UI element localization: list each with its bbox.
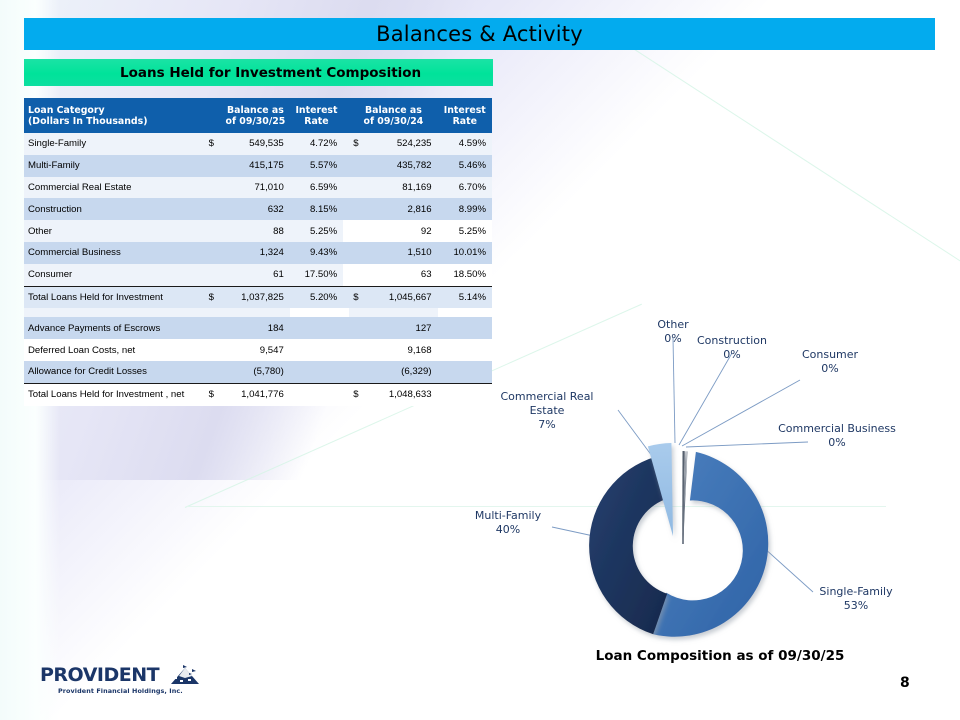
cell-balance-2025: 549,535 xyxy=(221,133,290,155)
header-loan-category-line2: (Dollars In Thousands) xyxy=(28,116,221,127)
header-balance-2024-line1: Balance as xyxy=(349,105,437,116)
logo-tagline: Provident Financial Holdings, Inc. xyxy=(40,687,210,695)
spacer-cell xyxy=(290,308,343,317)
cell-rate-2024: 5.46% xyxy=(438,155,492,177)
cell-currency-2025: $ xyxy=(205,133,221,155)
callout-commercial-real-estate: Commercial Real Estate 7% xyxy=(492,390,602,432)
cell-rate-2025: 5.57% xyxy=(290,155,343,177)
cell-currency-2024 xyxy=(349,155,365,177)
cell-rate-2024: 18.50% xyxy=(438,264,492,286)
cell-balance-2025: 71,010 xyxy=(221,177,290,199)
page-number: 8 xyxy=(900,675,910,691)
callout-multi-family-percent: 40% xyxy=(496,523,520,536)
cell-category: Commercial Real Estate xyxy=(24,177,205,199)
cell-currency-2024 xyxy=(349,242,365,264)
cell-balance-2024: 9,168 xyxy=(366,339,438,361)
cell-balance-2025: 415,175 xyxy=(221,155,290,177)
cell-balance-2024: 524,235 xyxy=(366,133,438,155)
callout-construction: Construction 0% xyxy=(692,334,772,362)
cell-balance-2024: 2,816 xyxy=(366,198,438,220)
cell-category: Allowance for Credit Losses xyxy=(24,361,205,383)
slide-canvas: Balances & Activity Loans Held for Inves… xyxy=(0,0,960,720)
header-balance-2025-line1: Balance as xyxy=(221,105,290,116)
chart-title: Loan Composition as of 09/30/25 xyxy=(570,648,870,664)
header-rate-2025-line2: Rate xyxy=(290,116,343,127)
cell-balance-2024: 63 xyxy=(366,264,438,286)
logo-wordmark-text: PROVIDENT xyxy=(40,664,159,686)
cell-category: Commercial Business xyxy=(24,242,205,264)
cell-category: Deferred Loan Costs, net xyxy=(24,339,205,361)
cell-currency-2024 xyxy=(349,198,365,220)
slice-multi-family xyxy=(589,457,668,635)
cell-balance-2024: 1,048,633 xyxy=(366,383,438,405)
cell-currency-2024 xyxy=(349,264,365,286)
cell-currency-2024 xyxy=(349,339,365,361)
table-total-row: Total Loans Held for Investment $ 1,037,… xyxy=(24,286,492,308)
background-diagonal-line-1 xyxy=(630,46,960,265)
section-title-bar: Loans Held for Investment Composition xyxy=(24,59,493,86)
cell-rate-2025: 9.43% xyxy=(290,242,343,264)
cell-balance-2024: 92 xyxy=(366,220,438,242)
header-rate-2025: Interest Rate xyxy=(290,98,343,133)
cell-rate-2025: 8.15% xyxy=(290,198,343,220)
header-loan-category: Loan Category (Dollars In Thousands) xyxy=(24,98,221,133)
spacer-cell xyxy=(205,308,221,317)
table-row: Deferred Loan Costs, net 9,547 9,168 xyxy=(24,339,492,361)
slide-title-bar: Balances & Activity xyxy=(24,18,935,50)
cell-currency-2025 xyxy=(205,264,221,286)
cell-rate-2024: 5.25% xyxy=(438,220,492,242)
slice-tiny-group xyxy=(683,451,687,544)
cell-balance-2025: 632 xyxy=(221,198,290,220)
company-logo: PROVIDENT Provident Financial Holdings, … xyxy=(40,664,210,708)
callout-commercial-business: Commercial Business 0% xyxy=(770,422,904,450)
table-spacer-row xyxy=(24,308,492,317)
cell-currency-2025 xyxy=(205,242,221,264)
header-balance-2024-line2: of 09/30/24 xyxy=(349,116,437,127)
callout-single-family-name: Single-Family xyxy=(819,585,892,598)
cell-currency-2025: $ xyxy=(205,286,221,308)
cell-category: Consumer xyxy=(24,264,205,286)
spacer-cell xyxy=(24,308,205,317)
cell-currency-2025 xyxy=(205,177,221,199)
callout-cre-percent: 7% xyxy=(538,418,555,431)
loan-composition-chart: Other 0% Construction 0% Consumer 0% Com… xyxy=(470,300,960,690)
callout-other-name: Other xyxy=(657,318,688,331)
header-rate-2024-line2: Rate xyxy=(438,116,492,127)
cell-balance-2025: 88 xyxy=(221,220,290,242)
callout-consumer-name: Consumer xyxy=(802,348,858,361)
cell-category: Total Loans Held for Investment , net xyxy=(24,383,205,405)
cell-currency-2025 xyxy=(205,361,221,383)
cell-currency-2024 xyxy=(349,317,365,339)
cell-rate-2024: 6.70% xyxy=(438,177,492,199)
table-net-total-row: Total Loans Held for Investment , net $ … xyxy=(24,383,492,405)
cell-balance-2025: 1,324 xyxy=(221,242,290,264)
table-row: Single-Family $ 549,535 4.72% $ 524,235 … xyxy=(24,133,492,155)
callout-cre-name-line1: Commercial Real xyxy=(500,390,593,403)
cell-balance-2024: (6,329) xyxy=(366,361,438,383)
callout-other-percent: 0% xyxy=(664,332,681,345)
callout-construction-percent: 0% xyxy=(723,348,740,361)
table-row: Construction 632 8.15% 2,816 8.99% xyxy=(24,198,492,220)
cell-currency-2024: $ xyxy=(349,383,365,405)
header-balance-2025-line2: of 09/30/25 xyxy=(221,116,290,127)
loans-table: Loan Category (Dollars In Thousands) Bal… xyxy=(24,98,492,406)
spacer-cell xyxy=(349,308,365,317)
cell-category: Construction xyxy=(24,198,205,220)
cell-balance-2025: 61 xyxy=(221,264,290,286)
table-row: Multi-Family 415,175 5.57% 435,782 5.46% xyxy=(24,155,492,177)
callout-construction-name: Construction xyxy=(697,334,767,347)
cell-currency-2025 xyxy=(205,339,221,361)
callout-commercial-business-percent: 0% xyxy=(828,436,845,449)
callout-consumer: Consumer 0% xyxy=(792,348,868,376)
table-row: Advance Payments of Escrows 184 127 xyxy=(24,317,492,339)
cell-category: Multi-Family xyxy=(24,155,205,177)
cell-category: Advance Payments of Escrows xyxy=(24,317,205,339)
cell-rate-2024: 8.99% xyxy=(438,198,492,220)
cell-currency-2025: $ xyxy=(205,383,221,405)
header-balance-2025: Balance as of 09/30/25 xyxy=(221,98,290,133)
table-row: Consumer 61 17.50% 63 18.50% xyxy=(24,264,492,286)
table-row: Commercial Real Estate 71,010 6.59% 81,1… xyxy=(24,177,492,199)
cell-currency-2024: $ xyxy=(349,133,365,155)
cell-currency-2024: $ xyxy=(349,286,365,308)
cell-currency-2024 xyxy=(349,361,365,383)
cell-balance-2025: 184 xyxy=(221,317,290,339)
header-rate-2024: Interest Rate xyxy=(438,98,492,133)
cell-balance-2024: 435,782 xyxy=(366,155,438,177)
cell-currency-2025 xyxy=(205,155,221,177)
spacer-cell xyxy=(366,308,438,317)
cell-currency-2025 xyxy=(205,317,221,339)
cell-currency-2025 xyxy=(205,198,221,220)
callout-single-family: Single-Family 53% xyxy=(808,585,904,613)
mountain-icon xyxy=(161,665,207,685)
cell-balance-2024: 1,045,667 xyxy=(366,286,438,308)
cell-rate-2025 xyxy=(290,339,343,361)
callout-multi-family-name: Multi-Family xyxy=(475,509,541,522)
cell-rate-2025 xyxy=(290,361,343,383)
cell-currency-2024 xyxy=(349,177,365,199)
cell-rate-2025 xyxy=(290,317,343,339)
callout-cre-name-line2: Estate xyxy=(530,404,565,417)
table-row: Commercial Business 1,324 9.43% 1,510 10… xyxy=(24,242,492,264)
cell-balance-2025: 1,037,825 xyxy=(221,286,290,308)
cell-balance-2025: 9,547 xyxy=(221,339,290,361)
header-rate-2025-line1: Interest xyxy=(290,105,343,116)
cell-balance-2025: 1,041,776 xyxy=(221,383,290,405)
header-rate-2024-line1: Interest xyxy=(438,105,492,116)
cell-balance-2024: 81,169 xyxy=(366,177,438,199)
cell-rate-2024: 10.01% xyxy=(438,242,492,264)
spacer-cell xyxy=(221,308,290,317)
cell-rate-2025: 6.59% xyxy=(290,177,343,199)
logo-wordmark: PROVIDENT xyxy=(40,664,210,686)
callout-commercial-business-name: Commercial Business xyxy=(778,422,896,435)
header-balance-2024: Balance as of 09/30/24 xyxy=(349,98,437,133)
header-loan-category-line1: Loan Category xyxy=(28,105,221,116)
callout-single-family-percent: 53% xyxy=(844,599,868,612)
callout-consumer-percent: 0% xyxy=(821,362,838,375)
table-row: Allowance for Credit Losses (5,780) (6,3… xyxy=(24,361,492,383)
page-title: Balances & Activity xyxy=(376,22,583,46)
cell-balance-2024: 127 xyxy=(366,317,438,339)
cell-category: Total Loans Held for Investment xyxy=(24,286,205,308)
cell-currency-2025 xyxy=(205,220,221,242)
cell-balance-2025: (5,780) xyxy=(221,361,290,383)
cell-rate-2025: 5.20% xyxy=(290,286,343,308)
cell-category: Other xyxy=(24,220,205,242)
callout-multi-family: Multi-Family 40% xyxy=(463,509,553,537)
cell-rate-2024: 4.59% xyxy=(438,133,492,155)
section-title: Loans Held for Investment Composition xyxy=(24,65,421,81)
cell-rate-2025: 4.72% xyxy=(290,133,343,155)
cell-currency-2024 xyxy=(349,220,365,242)
table-row: Other 88 5.25% 92 5.25% xyxy=(24,220,492,242)
cell-rate-2025: 17.50% xyxy=(290,264,343,286)
cell-rate-2025: 5.25% xyxy=(290,220,343,242)
cell-balance-2024: 1,510 xyxy=(366,242,438,264)
cell-category: Single-Family xyxy=(24,133,205,155)
cell-rate-2025 xyxy=(290,383,343,405)
table-header-row: Loan Category (Dollars In Thousands) Bal… xyxy=(24,98,492,133)
